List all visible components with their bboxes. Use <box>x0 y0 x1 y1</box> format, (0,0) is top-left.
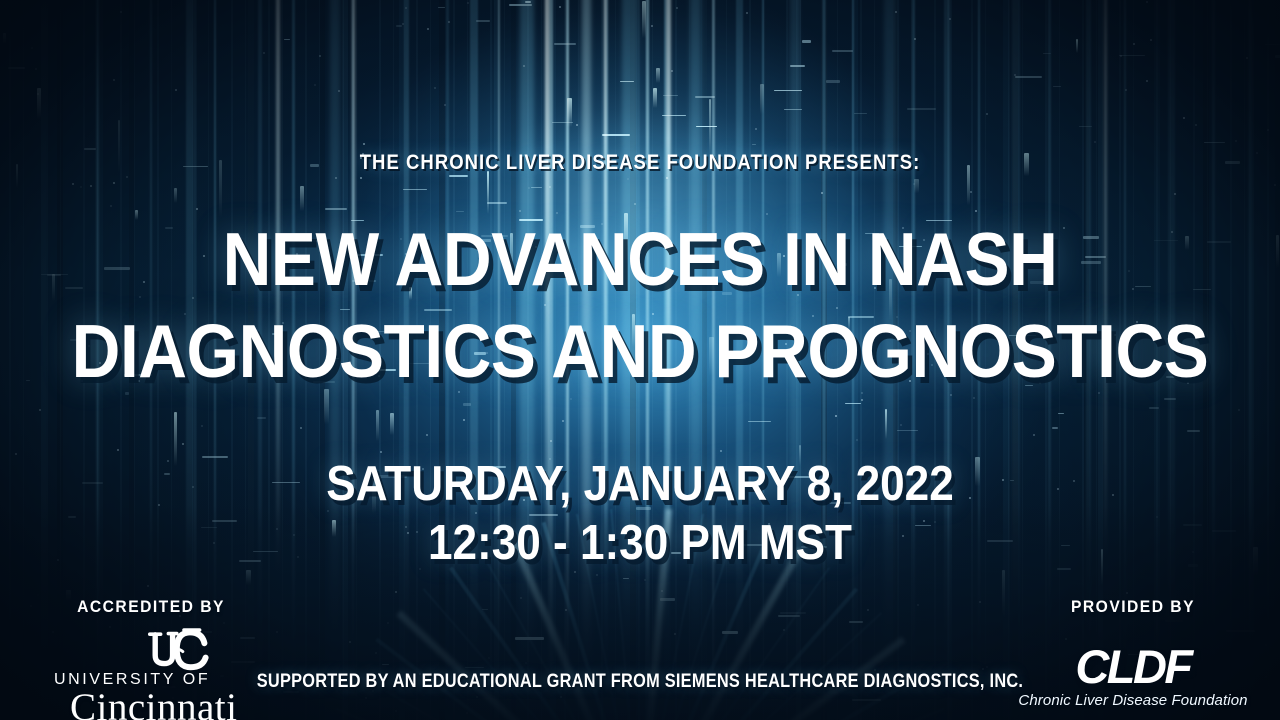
title-line-1: NEW ADVANCES IN NASH <box>64 213 1216 305</box>
cldf-tagline: Chronic Liver Disease Foundation <box>1008 692 1258 709</box>
page-title: NEW ADVANCES IN NASH DIAGNOSTICS AND PRO… <box>64 213 1216 397</box>
title-slide: THE CHRONIC LIVER DISEASE FOUNDATION PRE… <box>0 0 1280 720</box>
event-date: SATURDAY, JANUARY 8, 2022 <box>64 455 1216 513</box>
provided-by-label: PROVIDED BY <box>1018 597 1248 617</box>
grant-support-line: SUPPORTED BY AN EDUCATIONAL GRANT FROM S… <box>90 671 1191 693</box>
event-datetime: SATURDAY, JANUARY 8, 2022 12:30 - 1:30 P… <box>64 455 1216 573</box>
title-line-2: DIAGNOSTICS AND PROGNOSTICS <box>64 305 1216 397</box>
presenter-line: THE CHRONIC LIVER DISEASE FOUNDATION PRE… <box>77 151 1203 175</box>
slide-content: THE CHRONIC LIVER DISEASE FOUNDATION PRE… <box>0 0 1280 720</box>
uc-monogram-icon <box>142 625 214 677</box>
accredited-by-label: ACCREDITED BY <box>36 597 266 617</box>
event-time: 12:30 - 1:30 PM MST <box>64 513 1216 573</box>
